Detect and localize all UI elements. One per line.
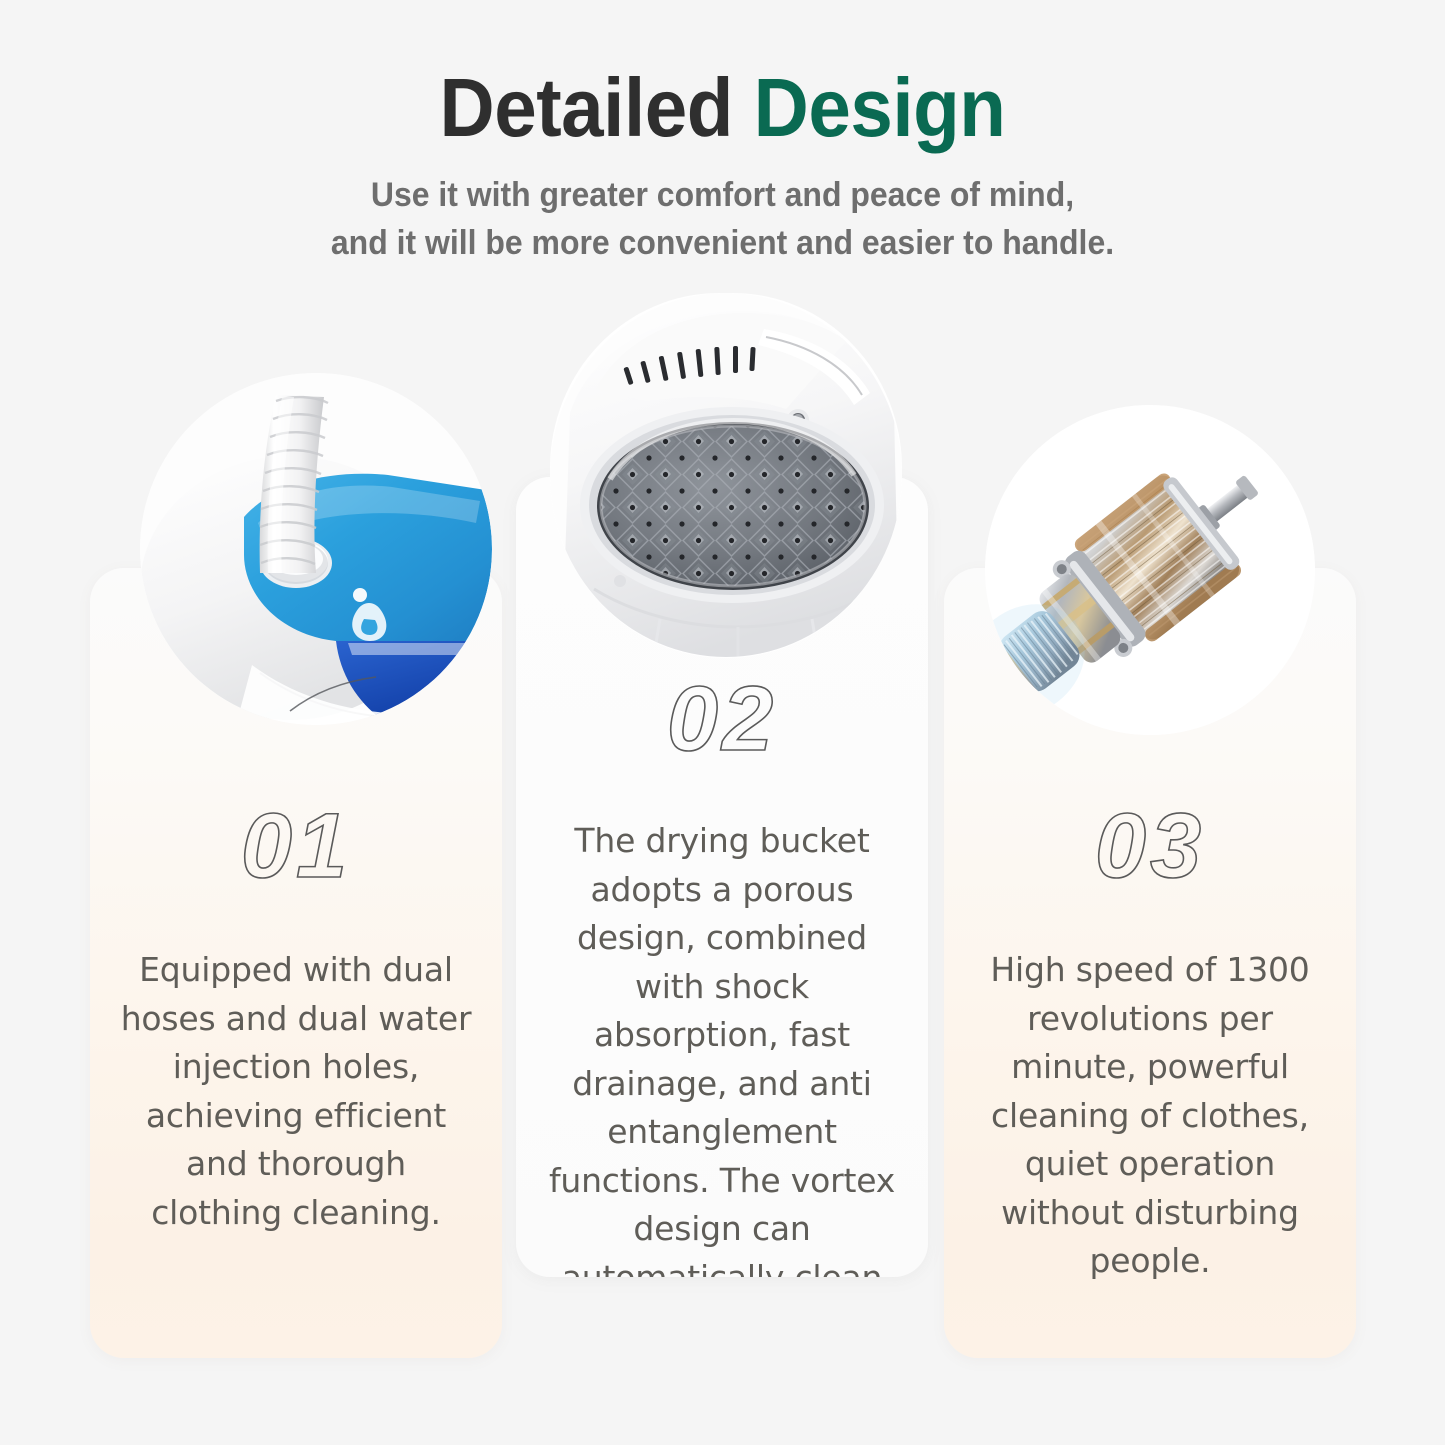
high-speed-motor-photo [985, 405, 1315, 735]
feature-card-3-text: High speed of 1300 revolutions per minut… [970, 946, 1330, 1286]
washing-machine-hose-inlet-photo [140, 373, 492, 725]
page-subtitle-line-2: and it will be more convenient and easie… [43, 219, 1401, 267]
page-title: Detailed Design [58, 66, 1387, 149]
feature-card-3-body: 03 High speed of 1300 revolutions per mi… [944, 800, 1356, 1286]
page-title-accent: Design [754, 61, 1006, 154]
feature-card-2-text: The drying bucket adopts a porous design… [542, 817, 902, 1277]
feature-card-1-text: Equipped with dual hoses and dual water … [116, 946, 476, 1237]
page-header: Detailed Design Use it with greater comf… [0, 0, 1445, 268]
feature-card-2-body: 02 The drying bucket adopts a porous des… [516, 673, 928, 1277]
feature-card-1-body: 01 Equipped with dual hoses and dual wat… [90, 800, 502, 1237]
page-title-main: Detailed [440, 61, 754, 154]
page-subtitle: Use it with greater comfort and peace of… [43, 171, 1401, 268]
feature-card-2-number: 02 [542, 673, 902, 765]
feature-card-1-number: 01 [116, 800, 476, 892]
washing-machine-drying-bucket-photo [550, 293, 902, 658]
feature-card-3-number: 03 [970, 800, 1330, 892]
page-subtitle-line-1: Use it with greater comfort and peace of… [43, 171, 1401, 219]
